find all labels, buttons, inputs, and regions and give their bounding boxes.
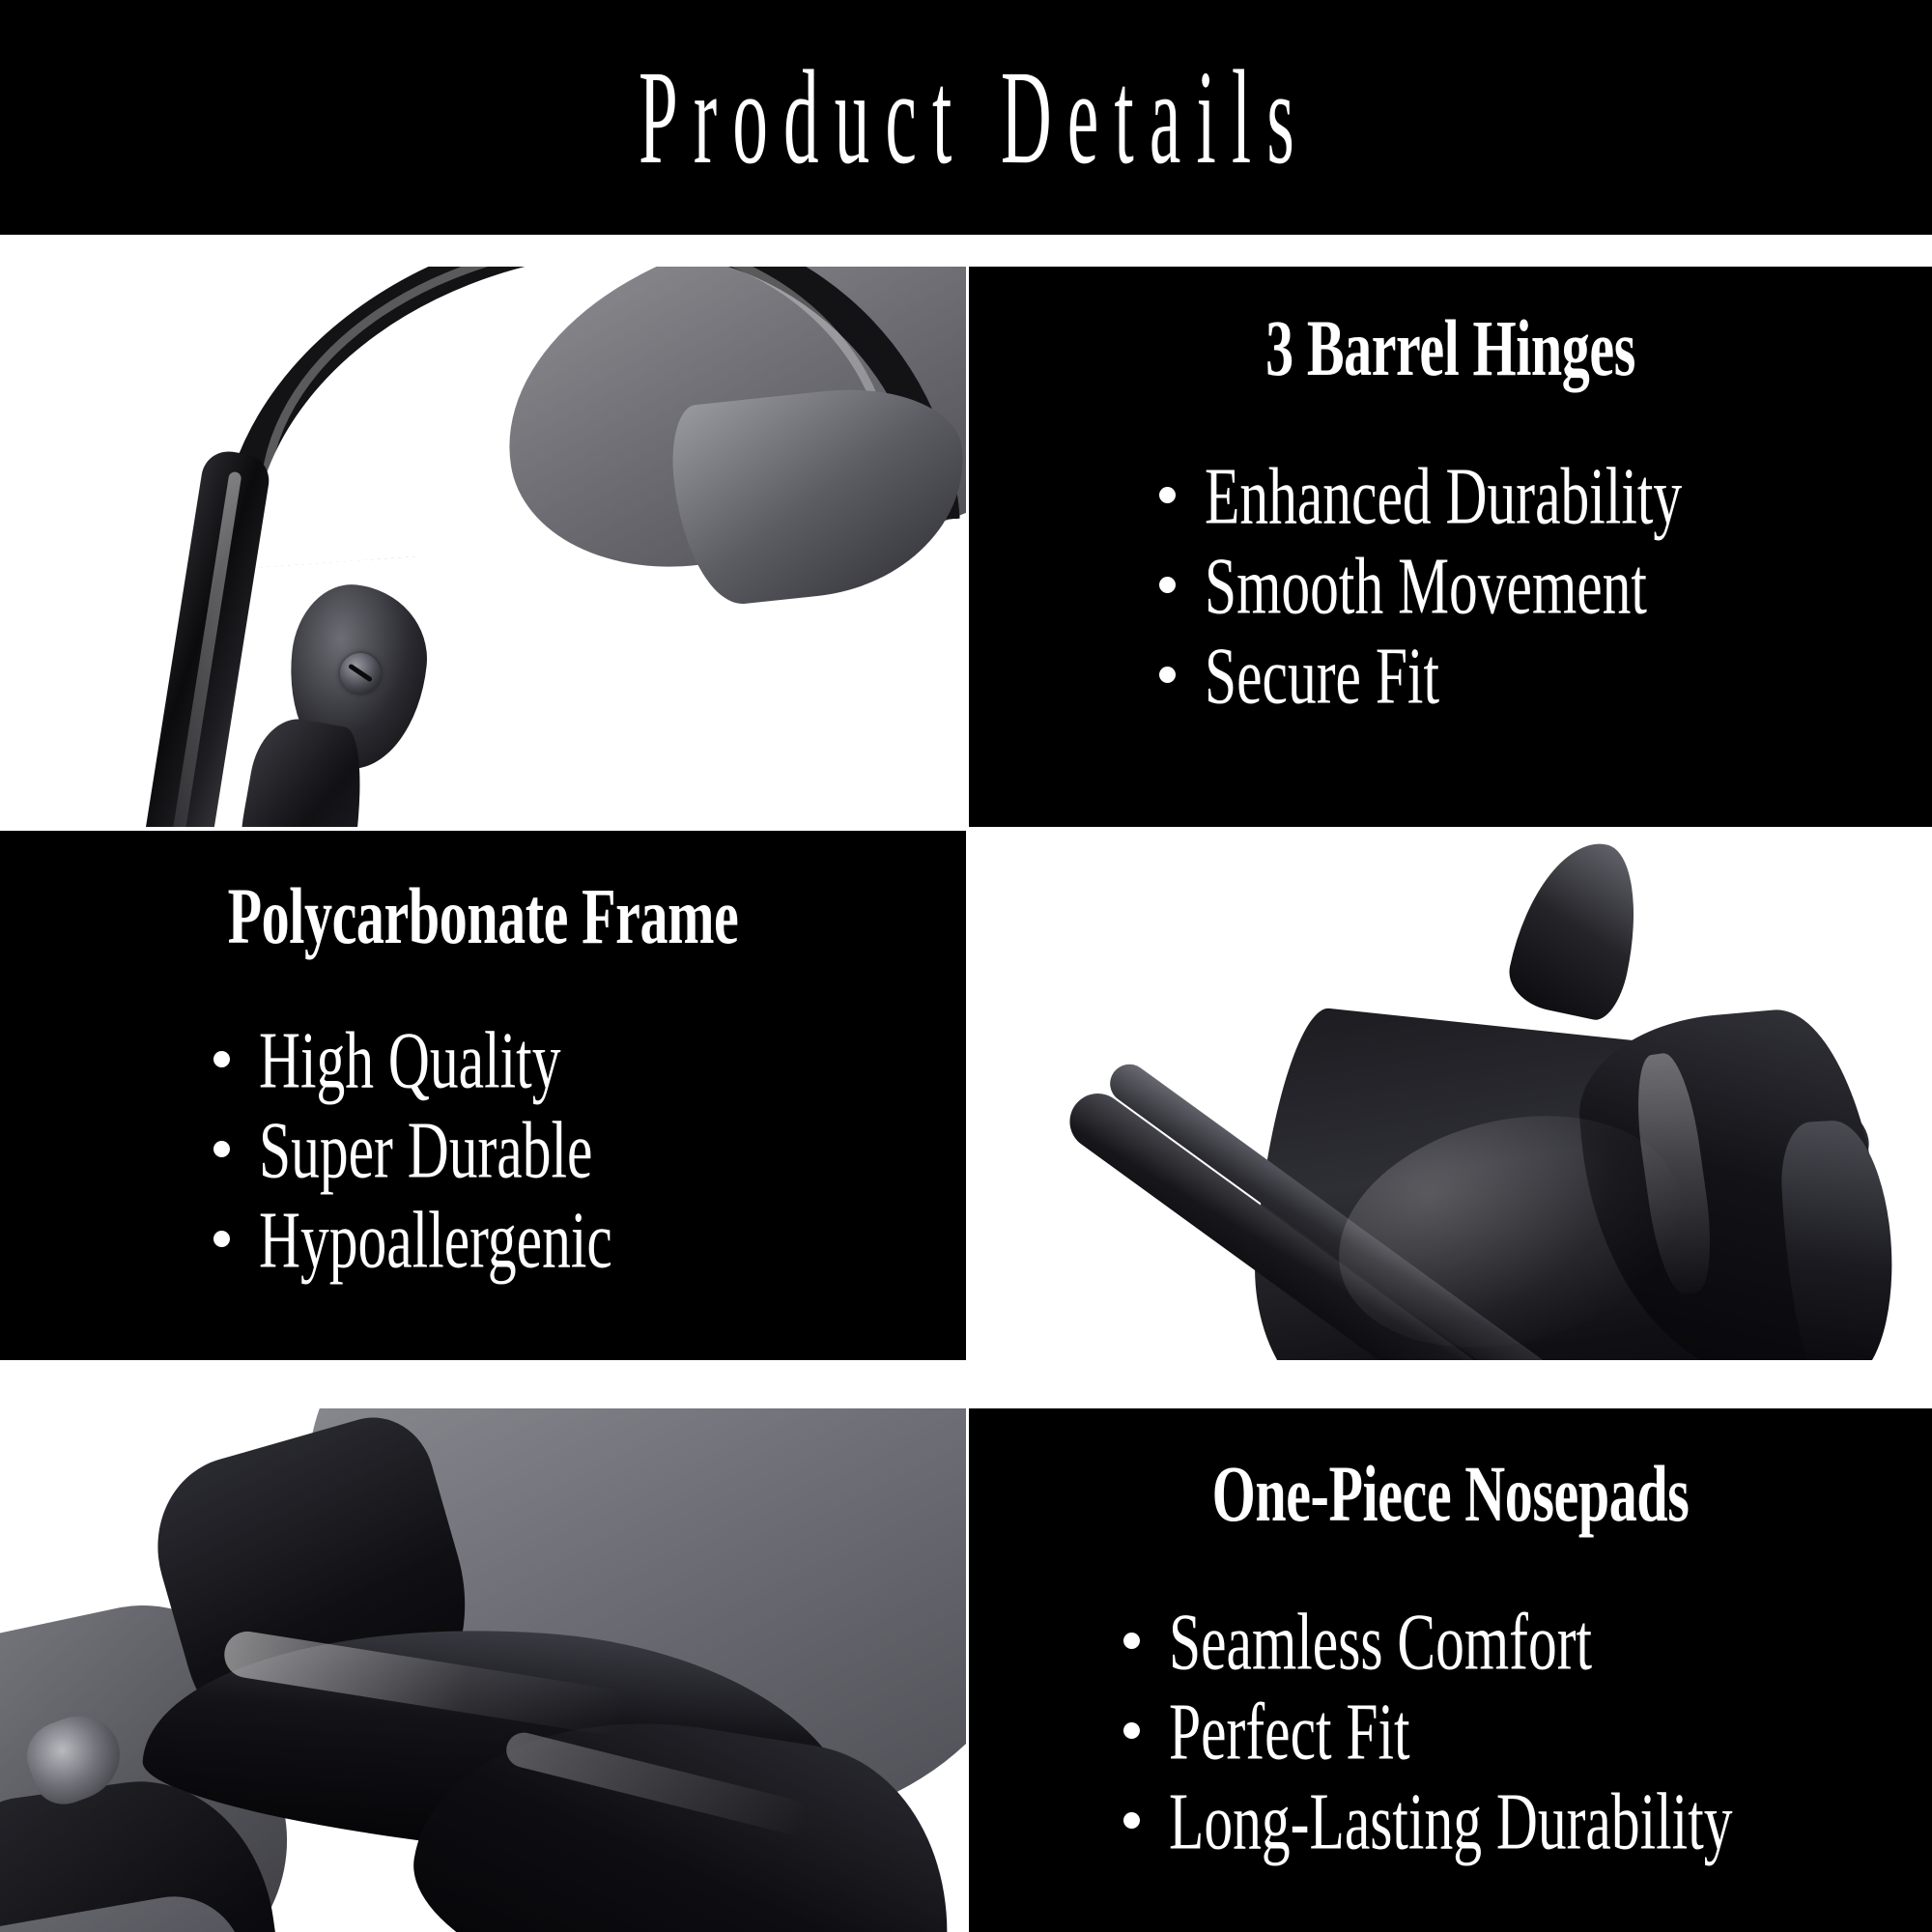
bullet-dot-icon bbox=[1159, 577, 1176, 593]
product-photo-frame bbox=[969, 831, 1932, 1360]
bullet-dot-icon bbox=[1159, 667, 1176, 683]
bullet-dot-icon bbox=[213, 1231, 230, 1247]
page-title: Product Details bbox=[622, 50, 1309, 185]
product-details-infographic: Product Details 3 Barrel Hinges Enh bbox=[0, 0, 1932, 1932]
feature-bullets-hinges: Enhanced Durability Smooth Movement Secu… bbox=[969, 466, 1932, 735]
bullet-dot-icon bbox=[1123, 1722, 1140, 1739]
feature-heading-frame: Polycarbonate Frame bbox=[58, 877, 908, 957]
nosepad-photo-art bbox=[0, 1408, 966, 1932]
bullet-label: Long-Lasting Durability bbox=[1169, 1781, 1733, 1861]
bullet-label: Seamless Comfort bbox=[1169, 1602, 1592, 1682]
feature-text-hinges: 3 Barrel Hinges Enhanced Durability Smoo… bbox=[969, 267, 1932, 827]
bullet-label: Smooth Movement bbox=[1205, 546, 1647, 626]
bullet-dot-icon bbox=[1123, 1812, 1140, 1829]
bullet-label: Hypoallergenic bbox=[259, 1200, 612, 1280]
feature-heading-hinges: 3 Barrel Hinges bbox=[1027, 309, 1874, 389]
bullet-label: Super Durable bbox=[259, 1110, 592, 1190]
feature-bullets-frame: High Quality Super Durable Hypoallergeni… bbox=[0, 1030, 966, 1299]
bullet-dot-icon bbox=[1123, 1633, 1140, 1649]
frame-endcap-shape bbox=[667, 378, 966, 610]
hinge-photo-art bbox=[0, 267, 966, 827]
frame-photo-art bbox=[969, 831, 1932, 1360]
feature-text-frame: Polycarbonate Frame High Quality Super D… bbox=[0, 831, 966, 1360]
product-photo-nosepads bbox=[0, 1408, 966, 1932]
list-item: Hypoallergenic bbox=[213, 1209, 966, 1299]
list-item: Secure Fit bbox=[1159, 645, 1932, 735]
header-banner: Product Details bbox=[0, 0, 1932, 235]
feature-row-hinges: 3 Barrel Hinges Enhanced Durability Smoo… bbox=[0, 267, 1932, 827]
bullet-label: Perfect Fit bbox=[1169, 1691, 1410, 1772]
bullet-dot-icon bbox=[213, 1141, 230, 1157]
frame-apex-shape bbox=[1503, 831, 1653, 1025]
feature-row-nosepads: One-Piece Nosepads Seamless Comfort Perf… bbox=[0, 1408, 1932, 1932]
bullet-label: Secure Fit bbox=[1205, 636, 1439, 716]
bullet-label: High Quality bbox=[259, 1020, 560, 1100]
hinge-screw-icon bbox=[340, 653, 381, 694]
bullet-label: Enhanced Durability bbox=[1205, 456, 1682, 536]
feature-bullets-nosepads: Seamless Comfort Perfect Fit Long-Lastin… bbox=[969, 1611, 1932, 1881]
list-item: Long-Lasting Durability bbox=[1123, 1791, 1932, 1881]
product-photo-hinge bbox=[0, 267, 966, 827]
feature-text-nosepads: One-Piece Nosepads Seamless Comfort Perf… bbox=[969, 1408, 1932, 1932]
feature-heading-nosepads: One-Piece Nosepads bbox=[1027, 1455, 1874, 1535]
bullet-dot-icon bbox=[213, 1051, 230, 1067]
feature-row-frame: Polycarbonate Frame High Quality Super D… bbox=[0, 831, 1932, 1360]
bullet-dot-icon bbox=[1159, 487, 1176, 503]
